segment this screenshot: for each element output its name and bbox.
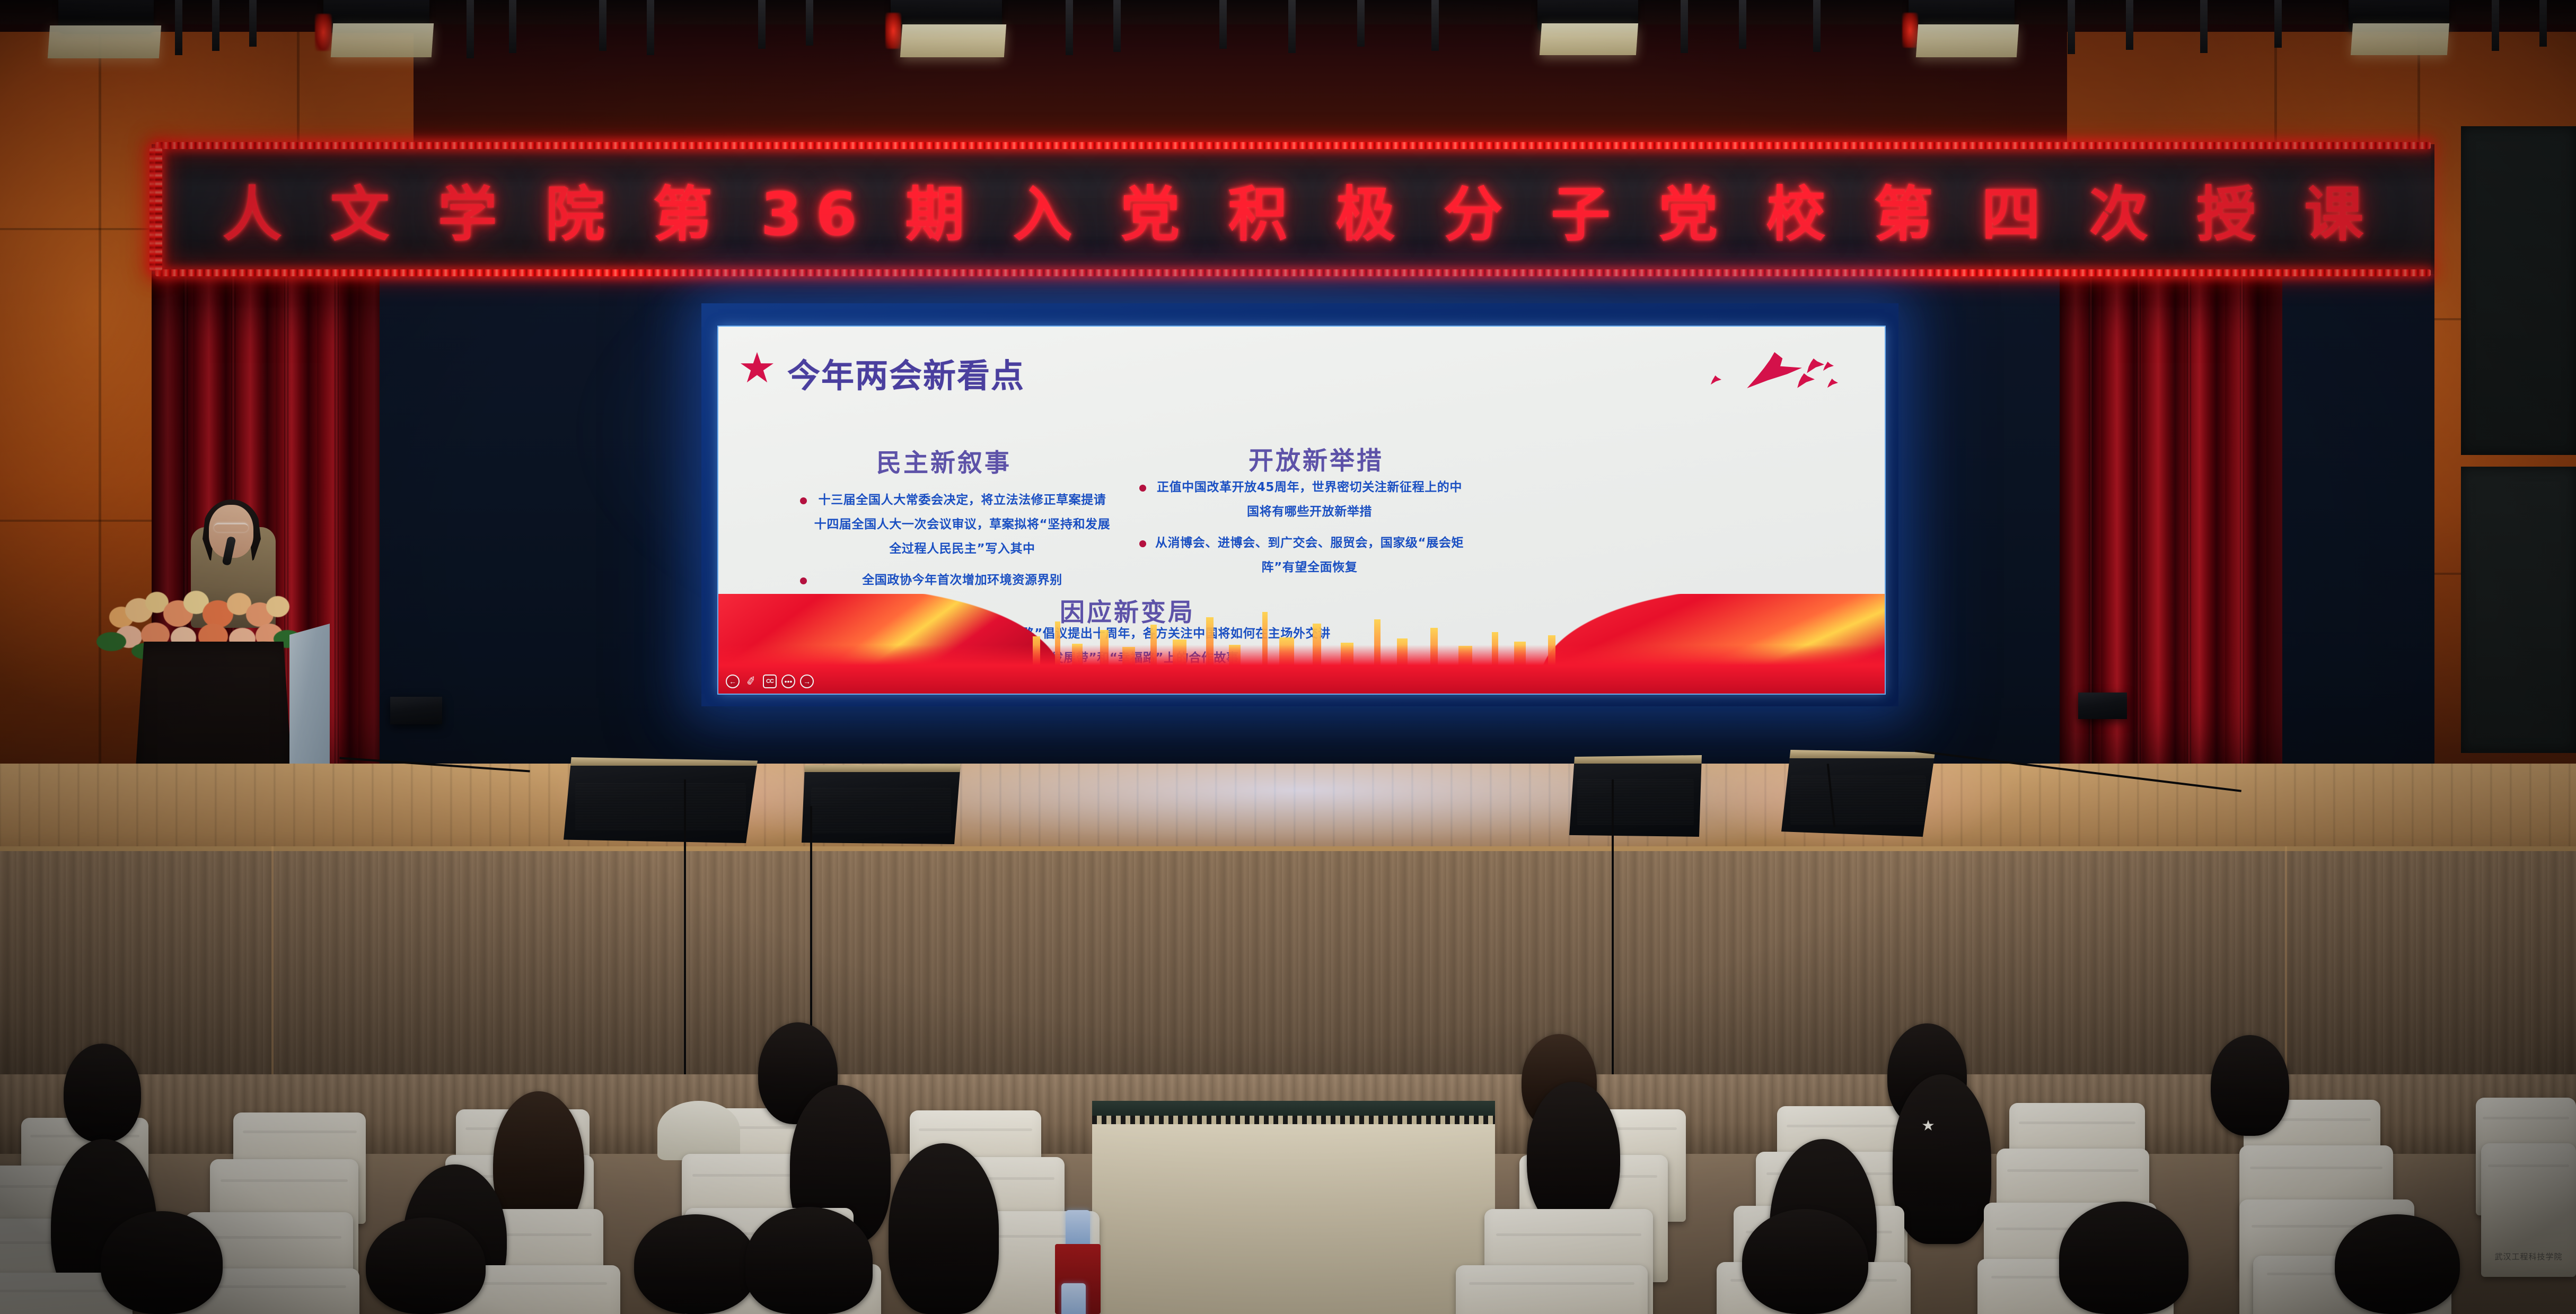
slide-bullet: 全国政协今年首次增加环境资源界别	[798, 568, 1111, 592]
light-hanger	[1813, 0, 1821, 52]
slide-bullet: 从消博会、进博会、到广交会、服贸会，国家级“展会矩阵”有望全面恢复	[1137, 531, 1466, 580]
auditorium-scene: 人 文 学 院 第 36 期 入 党 积 极 分 子 党 校 第 四 次 授 课…	[0, 0, 2576, 1314]
light-hanger	[1113, 0, 1121, 52]
seat: 武汉工程科技学院	[2481, 1143, 2576, 1277]
audience-person-head	[1742, 1209, 1868, 1314]
light-hanger	[599, 0, 606, 51]
light-hanger	[1739, 0, 1746, 49]
light-hanger	[509, 0, 516, 53]
audience-person-head	[745, 1207, 873, 1314]
light-hanger	[212, 0, 219, 51]
stage-floor	[0, 764, 2576, 859]
more-options-button[interactable]: •••	[781, 674, 795, 688]
light-hanger	[2200, 0, 2208, 53]
slide-column-heading-opening: 开放新举措	[1249, 440, 1384, 477]
audience-person-head	[634, 1214, 757, 1314]
light-hanger	[249, 0, 257, 47]
stage-curtain-right	[2060, 274, 2282, 810]
audience-person-head	[2211, 1035, 2289, 1136]
captions-button[interactable]: CC	[763, 674, 777, 688]
stage-equipment-case	[390, 697, 442, 724]
stage-light	[1537, 0, 1638, 59]
led-video-wall: 今年两会新看点 民主新叙事 开放新举措 因应新变局 十三届全国人大常委会决定，将…	[701, 303, 1898, 706]
light-hanger	[2539, 0, 2547, 47]
stage-equipment-case	[2078, 693, 2127, 719]
stage-apron-seam	[2285, 846, 2287, 1074]
glasses-icon	[214, 523, 248, 532]
slide-column-heading-democracy: 民主新叙事	[876, 442, 1012, 479]
light-hanger	[647, 0, 654, 55]
audience-person-head	[2335, 1214, 2460, 1314]
stage-light	[2349, 0, 2449, 58]
light-hanger	[2492, 0, 2499, 51]
slide-bullets-opening: 正值中国改革开放45周年，世界密切关注新征程上的中国将有哪些开放新举措 从消博会…	[1137, 475, 1466, 586]
light-hanger	[467, 0, 474, 58]
seat-cover-label: 武汉工程科技学院	[2481, 1251, 2576, 1262]
next-slide-button[interactable]: →	[800, 674, 814, 688]
stage-light	[1909, 0, 2015, 60]
slide-footer-art	[718, 594, 1885, 694]
acoustic-panel	[2461, 467, 2576, 753]
stage-monitor-speaker	[1569, 755, 1702, 837]
red-ribbon-base	[718, 645, 1885, 694]
audience-person-head	[366, 1217, 486, 1314]
presentation-slide: 今年两会新看点 民主新叙事 开放新举措 因应新变局 十三届全国人大常委会决定，将…	[718, 327, 1885, 694]
light-hanger	[2274, 0, 2282, 48]
light-hanger	[758, 0, 766, 49]
audience-person-head	[2059, 1202, 2188, 1314]
slide-bullet: 正值中国改革开放45周年，世界密切关注新征程上的中国将有哪些开放新举措	[1137, 475, 1466, 524]
stage-light	[891, 0, 1002, 63]
stage-apron-seam	[271, 846, 274, 1074]
previous-slide-button[interactable]: ←	[726, 674, 740, 688]
center-aisle-floor	[1092, 1124, 1495, 1314]
light-hanger	[806, 0, 813, 46]
seat: 武汉工程科技学院	[1456, 1265, 1648, 1314]
stage-apron	[0, 846, 2576, 1074]
pen-tool-button[interactable]: ✐	[743, 673, 759, 689]
light-hanger	[2068, 0, 2075, 54]
wall-seam	[99, 32, 101, 848]
stage-monitor-speaker	[802, 764, 961, 844]
light-hanger	[2126, 0, 2133, 50]
audience-cap	[657, 1101, 740, 1160]
stage-light	[58, 0, 154, 58]
light-hanger	[1288, 0, 1296, 53]
smartphone-screen[interactable]	[1061, 1283, 1086, 1314]
audience-person-head	[1893, 1074, 1991, 1244]
light-hanger	[175, 0, 182, 55]
acoustic-panel	[2461, 126, 2576, 455]
light-hanger	[1681, 0, 1688, 53]
audience-person-head	[1527, 1082, 1620, 1230]
flying-doves-icon	[1698, 346, 1836, 404]
stage-cable	[1612, 779, 1614, 1074]
light-hanger	[1357, 0, 1365, 47]
stage-light	[323, 0, 429, 59]
audience-person-head	[889, 1143, 999, 1314]
audience-person-head	[101, 1211, 223, 1314]
led-banner: 人 文 学 院 第 36 期 入 党 积 极 分 子 党 校 第 四 次 授 课	[152, 144, 2434, 274]
stage-monitor-speaker	[1781, 750, 1935, 837]
slide-bullets-democracy: 十三届全国人大常委会决定，将立法法修正草案提请十四届全国人大一次会议审议，草案拟…	[798, 488, 1111, 599]
banner-title-text: 人 文 学 院 第 36 期 入 党 积 极 分 子 党 校 第 四 次 授 课	[155, 148, 2431, 270]
stage-monitor-speaker	[564, 757, 758, 843]
slide-title: 今年两会新看点	[787, 349, 1025, 397]
red-star-icon	[741, 352, 773, 384]
light-hanger	[1219, 0, 1227, 49]
powerpoint-presenter-toolbar[interactable]: ← ✐ CC ••• →	[726, 674, 814, 688]
light-hanger	[1431, 0, 1439, 51]
stage-cable	[684, 779, 686, 1074]
audience-person-head	[64, 1044, 141, 1142]
light-hanger	[1066, 0, 1073, 55]
slide-bullet: 十三届全国人大常委会决定，将立法法修正草案提请十四届全国人大一次会议审议，草案拟…	[798, 488, 1111, 561]
